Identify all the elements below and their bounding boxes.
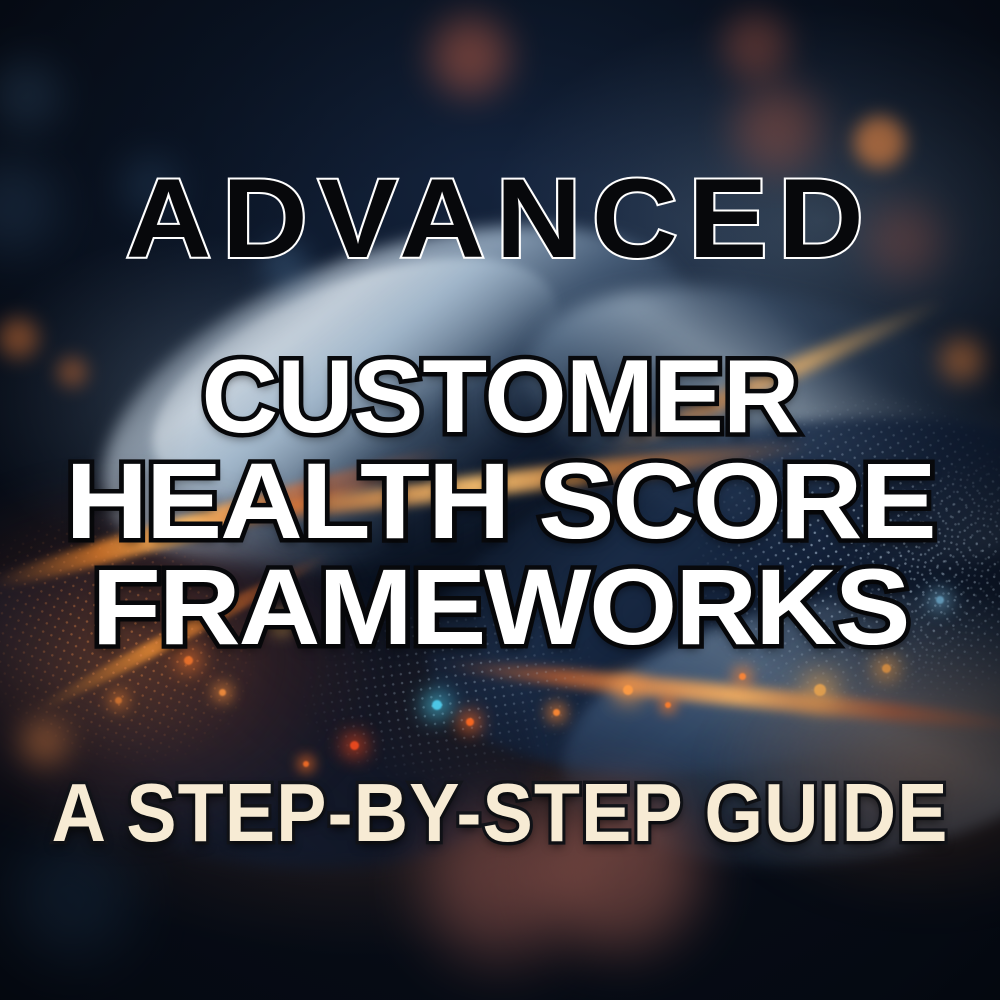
title-card-poster: ADVANCED CUSTOMER HEALTH SCORE FRAMEWORK… xyxy=(0,0,1000,1000)
headline-line-customer: CUSTOMER xyxy=(0,345,1000,449)
headline-advanced: ADVANCED xyxy=(0,163,1000,275)
poster-text-content: ADVANCED CUSTOMER HEALTH SCORE FRAMEWORK… xyxy=(0,0,1000,1000)
headline-line-frameworks: FRAMEWORKS xyxy=(0,553,1000,661)
subtitle-step-by-step-guide: A STEP-BY-STEP GUIDE xyxy=(0,772,1000,855)
headline-line-health-score: HEALTH SCORE xyxy=(0,447,1000,555)
